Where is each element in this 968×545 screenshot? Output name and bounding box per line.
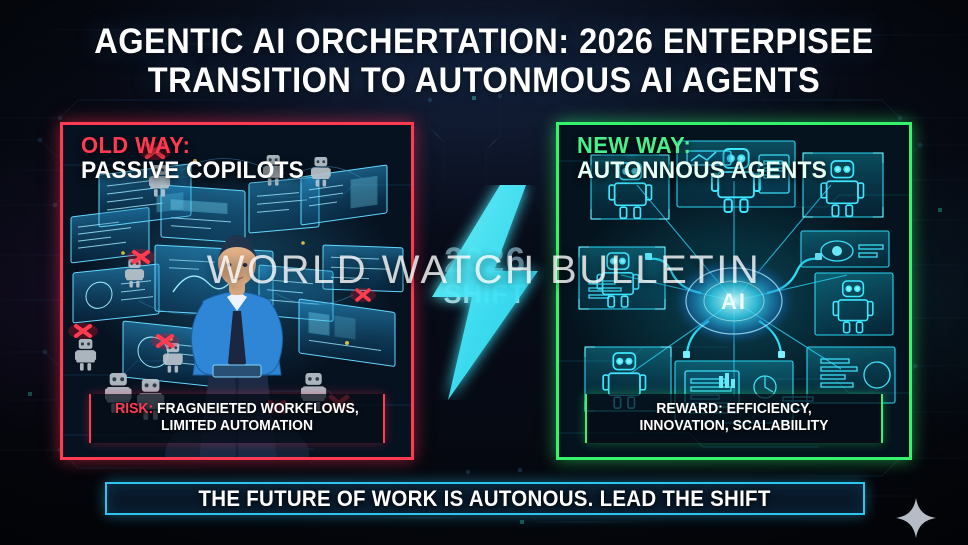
new-way-reward-chip: REWARD: EFFICIENCY, INNOVATION, SCALABII… bbox=[585, 394, 883, 443]
risk-label: RISK: bbox=[115, 401, 153, 417]
lightning-bolt-icon bbox=[414, 185, 556, 400]
ai-core-orb: AI bbox=[672, 257, 796, 345]
cta-banner[interactable]: THE FUTURE OF WORK IS AUTONOUS. LEAD THE… bbox=[105, 482, 865, 515]
panel-old-way[interactable]: OLD WAY: PASSIVE COPILOTS RISK: FRAGNEIE… bbox=[60, 122, 414, 460]
headline-line-1: AGENTIC AI ORCHERTATION: 2026 ENTERPISEE bbox=[34, 22, 934, 61]
panel-new-way[interactable]: AI NEW WAY: AUTONNOUS AGENTS REWARD: EFF… bbox=[556, 122, 912, 460]
old-way-heading: OLD WAY: PASSIVE COPILOTS bbox=[81, 133, 316, 184]
ai-core-label: AI bbox=[721, 289, 747, 314]
old-way-subtitle: PASSIVE COPILOTS bbox=[81, 158, 304, 184]
risk-line-1: FRAGNEIETED WORKFLOWS, bbox=[157, 401, 359, 417]
reward-line-1: REWARD: EFFICIENCY, bbox=[601, 401, 868, 418]
headline-line-2: TRANSITION TO AUTONMOUS AI AGENTS bbox=[34, 61, 934, 100]
reward-line-2: INNOVATION, SCALABIILITY bbox=[601, 418, 868, 435]
old-way-risk-chip: RISK: FRAGNEIETED WORKFLOWS, LIMITED AUT… bbox=[89, 394, 385, 443]
new-way-heading: NEW WAY: AUTONNOUS AGENTS bbox=[577, 133, 840, 184]
poster-canvas: AGENTIC AI ORCHERTATION: 2026 ENTERPISEE… bbox=[0, 0, 968, 545]
cta-banner-text: THE FUTURE OF WORK IS AUTONOUS. LEAD THE… bbox=[199, 486, 771, 512]
four-point-star-icon bbox=[895, 497, 937, 539]
old-way-kicker: OLD WAY: bbox=[81, 133, 304, 158]
new-way-subtitle: AUTONNOUS AGENTS bbox=[577, 158, 827, 184]
page-title: AGENTIC AI ORCHERTATION: 2026 ENTERPISEE… bbox=[0, 22, 968, 100]
new-way-kicker: NEW WAY: bbox=[577, 133, 827, 158]
risk-line-2: LIMITED AUTOMATION bbox=[105, 418, 370, 435]
